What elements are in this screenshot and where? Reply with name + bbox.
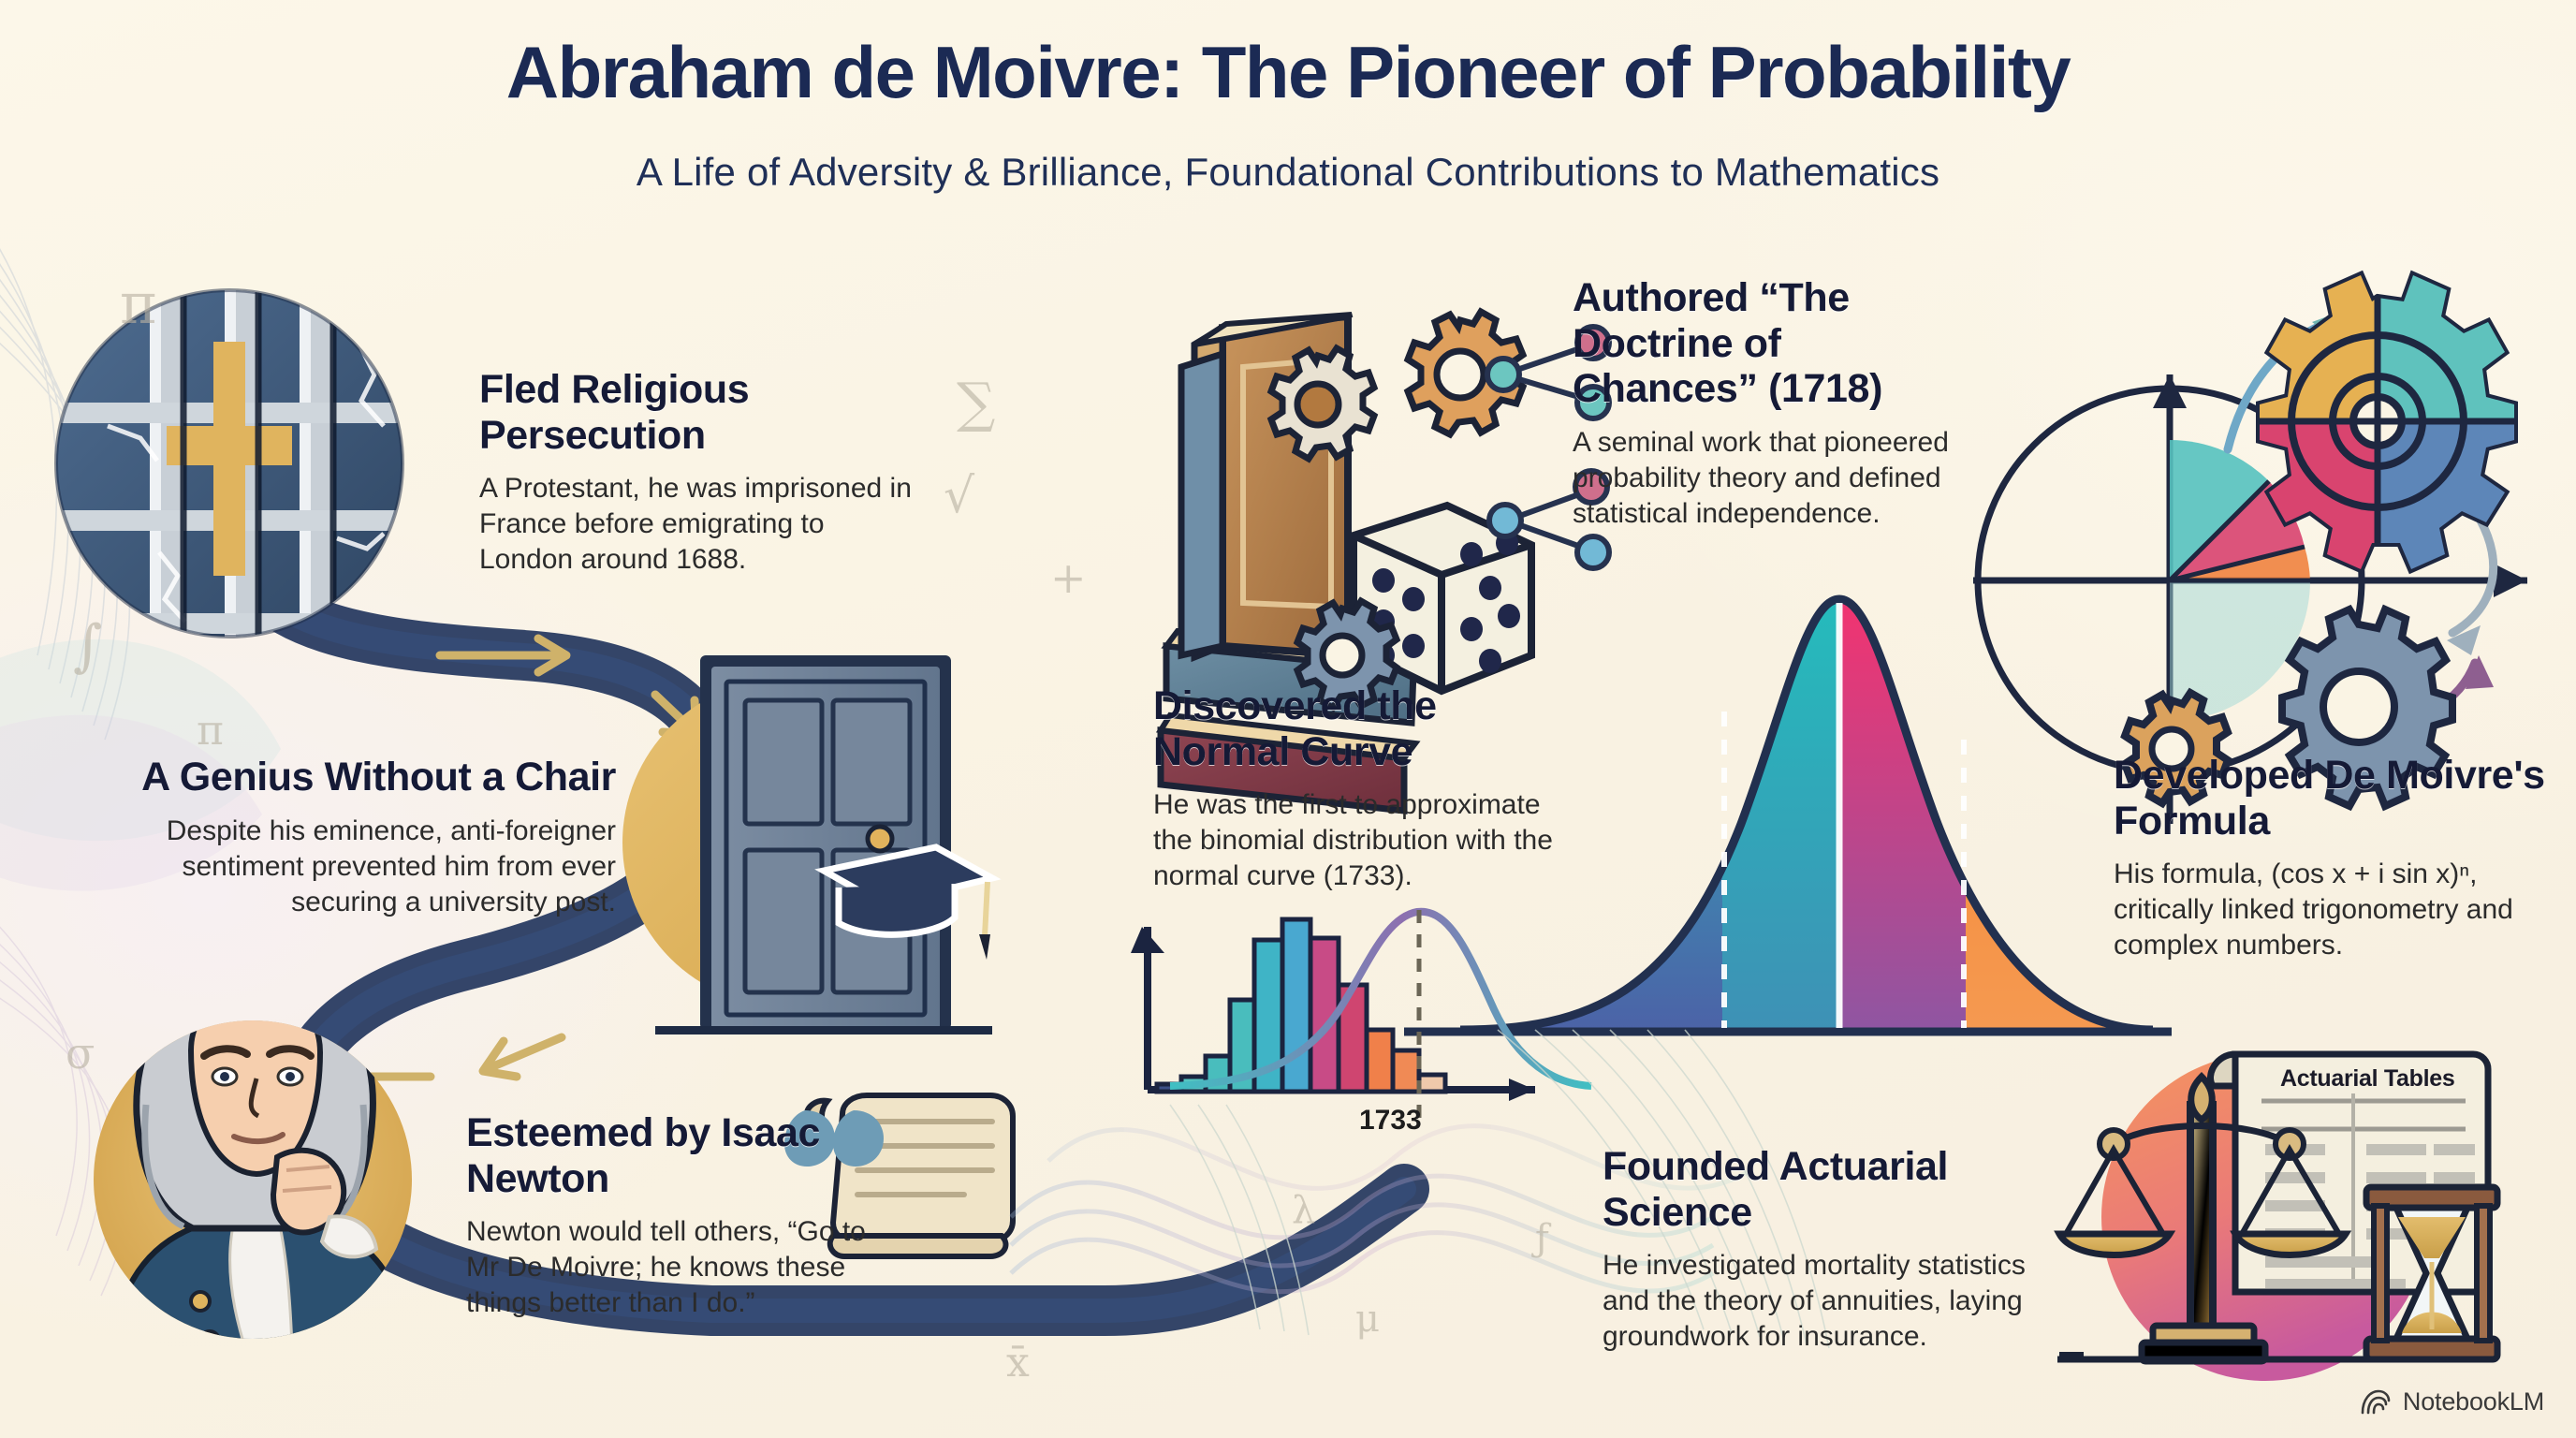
block-title: Developed De Moivre's Formula xyxy=(2114,753,2554,844)
actuarial-tables-label: Actuarial Tables xyxy=(2280,1065,2454,1093)
binomial-histogram-chart xyxy=(1131,910,1591,1120)
math-symbol-sigma: σ xyxy=(66,1028,95,1078)
infographic-canvas: π ∑ √ + ∫ π σ μ x̄ λ ƒ Abraham de Moivre… xyxy=(0,0,2576,1438)
block-body: Newton would tell others, “Go to Mr De M… xyxy=(466,1214,897,1321)
block-title: Discovered the Normal Curve xyxy=(1153,683,1565,774)
hourglass-icon xyxy=(2366,1187,2497,1359)
block-body: A Protestant, he was imprisoned in Franc… xyxy=(479,471,912,578)
block-founded-actuarial-science: Founded Actuarial Science He investigate… xyxy=(1603,1144,2042,1355)
notebooklm-spiral-icon xyxy=(2360,1386,2392,1417)
university-door-illustration xyxy=(622,655,992,1034)
decor-left-fan xyxy=(0,234,130,740)
block-esteemed-by-isaac-newton: Esteemed by Isaac Newton Newton would te… xyxy=(466,1110,897,1321)
block-authored-doctrine-of-chances: Authored “The Doctrine of Chances” (1718… xyxy=(1573,275,1966,532)
block-body: A seminal work that pioneered probabilit… xyxy=(1573,425,1966,532)
table-cell xyxy=(2265,1144,2475,1288)
block-developed-de-moivres-formula: Developed De Moivre's Formula His formul… xyxy=(2114,753,2554,963)
block-title: Authored “The Doctrine of Chances” (1718… xyxy=(1573,275,1966,412)
gear-icon xyxy=(1271,312,1523,708)
prison-bars-illustration xyxy=(56,281,412,674)
histogram-bar xyxy=(1157,919,1445,1092)
sigma-marker xyxy=(1724,712,1964,1028)
math-symbol-pi: π xyxy=(120,271,156,337)
page-subtitle: A Life of Adversity & Brilliance, Founda… xyxy=(0,150,2576,195)
block-title: A Genius Without a Chair xyxy=(129,755,616,800)
chart-year-label: 1733 xyxy=(1359,1105,1422,1137)
gear-icon xyxy=(2228,262,2537,590)
math-symbol-integral: ∫ xyxy=(73,613,102,679)
decor-left-fan-2 xyxy=(0,917,127,1296)
block-body: He investigated mortality statistics and… xyxy=(1603,1248,2042,1355)
page-title: Abraham de Moivre: The Pioneer of Probab… xyxy=(0,30,2576,115)
balance-scale-icon xyxy=(2059,1077,2346,1361)
isaac-newton-portrait xyxy=(94,970,412,1350)
block-title: Fled Religious Persecution xyxy=(479,367,912,458)
math-symbol-theta: ƒ xyxy=(1535,1217,1549,1260)
block-title: Founded Actuarial Science xyxy=(1603,1144,2042,1235)
math-symbol-sqrt: √ xyxy=(944,468,974,524)
graduation-cap-icon xyxy=(824,847,992,960)
math-symbol-sum: ∑ xyxy=(957,371,995,434)
notebooklm-watermark: NotebookLM xyxy=(2360,1386,2544,1417)
math-symbol-fraction: π xyxy=(197,707,224,755)
unit-circle-gears-illustration xyxy=(1973,262,2537,824)
watermark-label: NotebookLM xyxy=(2403,1387,2544,1416)
block-body: Despite his eminence, anti-foreigner sen… xyxy=(129,814,616,920)
math-symbol-lambda: λ xyxy=(1292,1189,1315,1232)
block-body: His formula, (cos x + i sin x)ⁿ, critica… xyxy=(2114,857,2554,963)
block-genius-without-a-chair: A Genius Without a Chair Despite his emi… xyxy=(129,755,616,920)
block-discovered-the-normal-curve: Discovered the Normal Curve He was the f… xyxy=(1153,683,1565,894)
actuarial-science-illustration xyxy=(2057,1053,2497,1381)
block-body: He was the first to approximate the bino… xyxy=(1153,787,1565,894)
math-symbol-x: x̄ xyxy=(1006,1339,1030,1387)
dice-icon xyxy=(1354,506,1531,691)
block-title: Esteemed by Isaac Newton xyxy=(466,1110,897,1201)
block-fled-religious-persecution: Fled Religious Persecution A Protestant,… xyxy=(479,367,912,578)
math-symbol-mu: μ xyxy=(1355,1298,1380,1341)
math-symbol-plus: + xyxy=(1050,552,1087,603)
